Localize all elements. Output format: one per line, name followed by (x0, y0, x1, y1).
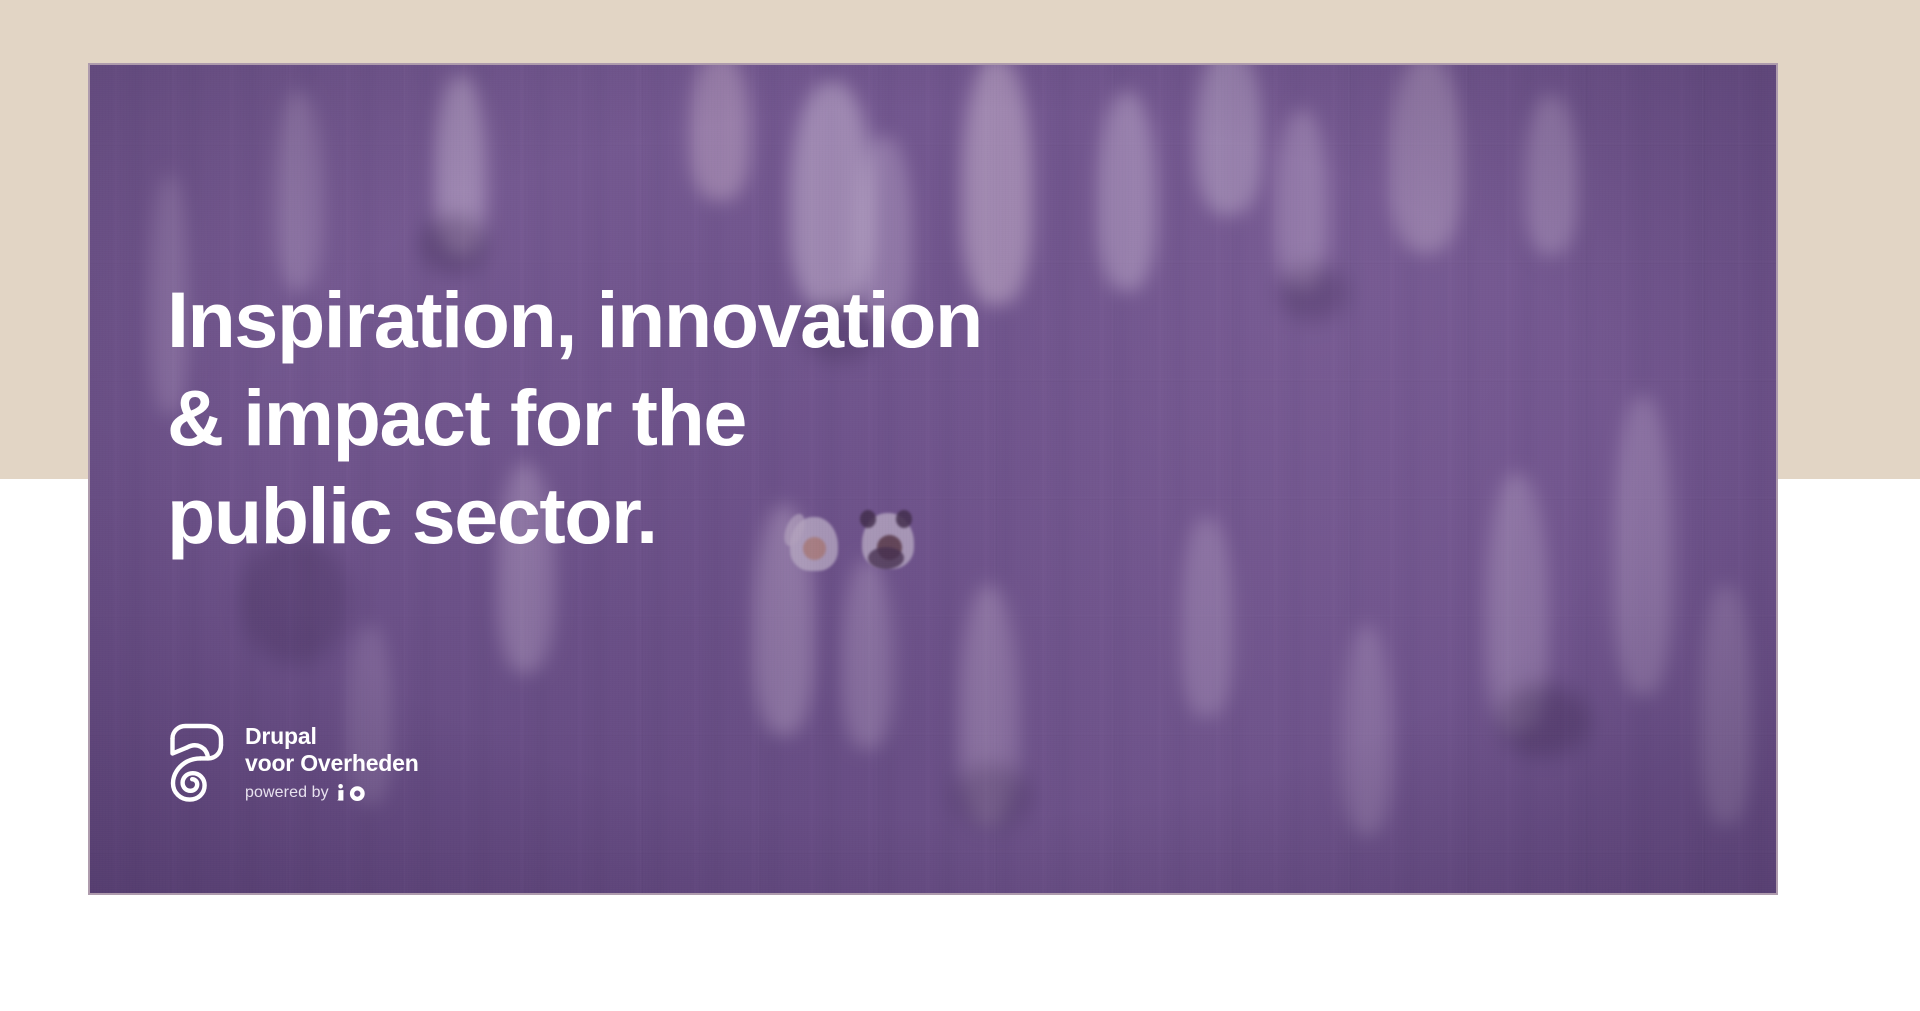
hero-headline: Inspiration, innovation & impact for the… (167, 271, 1267, 565)
hero-banner: Inspiration, innovation & impact for the… (88, 63, 1778, 895)
drupal-chameleon-icon (167, 720, 229, 804)
powered-by-lockup: powered by (245, 784, 419, 802)
logo-name-line-1: Drupal (245, 723, 419, 750)
headline-line-3: public sector. (167, 467, 1267, 565)
headline-line-1: Inspiration, innovation (167, 271, 1267, 369)
headline-line-2: & impact for the (167, 369, 1267, 467)
drupal-voor-overheden-logo[interactable]: Drupal voor Overheden powered by (167, 720, 419, 804)
powered-by-label: powered by (245, 784, 329, 802)
logo-text-block: Drupal voor Overheden powered by (245, 723, 419, 802)
page-root: Inspiration, innovation & impact for the… (0, 0, 1920, 1011)
io-logo-icon (336, 784, 366, 801)
logo-name-line-2: voor Overheden (245, 750, 419, 777)
